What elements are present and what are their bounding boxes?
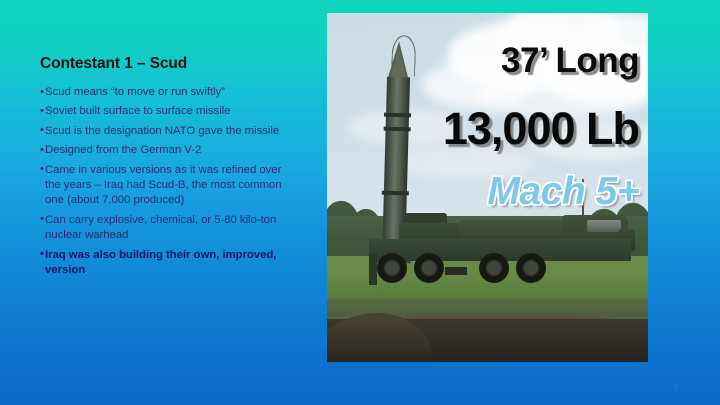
- content-placeholder: Contestant 1 – Scud • Scud means “to mov…: [40, 55, 285, 283]
- bullet-marker: •: [40, 162, 44, 177]
- stabilizer-leg: [369, 253, 377, 285]
- list-item-text: Designed from the German V-2: [45, 144, 201, 156]
- launcher-vehicle: [369, 209, 637, 285]
- bullet-list: • Scud means “to move or run swiftly” • …: [40, 85, 285, 278]
- bullet-marker: •: [40, 212, 44, 227]
- wheel: [516, 253, 546, 283]
- bullet-marker: •: [40, 104, 44, 119]
- caption-weight: 13,000 Lb: [443, 103, 639, 155]
- list-item-text: Scud is the designation NATO gave the mi…: [45, 125, 279, 137]
- slide-number: 9: [673, 382, 678, 392]
- caption-speed: Mach 5+: [488, 170, 640, 214]
- missile-band: [382, 191, 409, 196]
- caption-length: 37’ Long: [501, 41, 639, 81]
- wheel: [479, 253, 509, 283]
- list-item: • Can carry explosive, chemical, or 5-80…: [40, 213, 285, 244]
- list-item: • Designed from the German V-2: [40, 143, 285, 158]
- missile-band: [384, 113, 411, 118]
- scud-launcher-photo: 37’ Long 13,000 Lb Mach 5+: [327, 13, 648, 362]
- list-item-text: Came in various versions as it was refin…: [45, 164, 282, 207]
- list-item: • Came in various versions as it was ref…: [40, 163, 285, 209]
- list-item: • Scud means “to move or run swiftly”: [40, 85, 285, 100]
- list-item-text: Soviet built surface to surface missile: [45, 105, 230, 117]
- bullet-marker: •: [40, 123, 44, 138]
- missile-band: [384, 127, 411, 132]
- wheel: [377, 253, 407, 283]
- list-item: • Scud is the designation NATO gave the …: [40, 124, 285, 139]
- missile-nose-highlight: [390, 47, 407, 79]
- list-item-text: Iraq was also building their own, improv…: [45, 249, 276, 276]
- list-item: • Iraq was also building their own, impr…: [40, 248, 285, 279]
- list-item: • Soviet built surface to surface missil…: [40, 104, 285, 119]
- page-title: Contestant 1 – Scud: [40, 55, 285, 72]
- bullet-marker: •: [40, 143, 44, 158]
- list-item-text: Scud means “to move or run swiftly”: [45, 86, 225, 98]
- bullet-marker: •: [40, 85, 44, 100]
- stabilizer-pad: [445, 267, 467, 275]
- cab-window: [587, 220, 621, 232]
- bullet-marker: •: [40, 247, 44, 262]
- wheel: [414, 253, 444, 283]
- list-item-text: Can carry explosive, chemical, or 5-80 k…: [45, 214, 276, 241]
- slide: Contestant 1 – Scud • Scud means “to mov…: [0, 0, 720, 405]
